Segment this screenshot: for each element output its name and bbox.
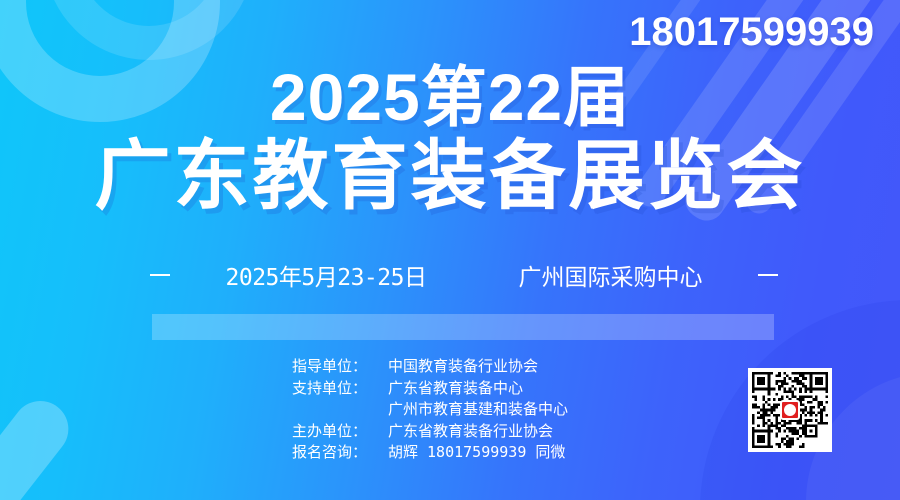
event-meta-row: 2025年5月23-25日 广州国际采购中心	[150, 258, 778, 292]
organizer-label: 主办单位：	[292, 421, 388, 443]
dash-right-decoration	[758, 274, 778, 276]
organizer-row: 主办单位： 广东省教育装备行业协会	[292, 421, 568, 443]
event-title-line-2: 广东教育装备展览会	[0, 136, 900, 218]
organizer-label	[292, 399, 388, 421]
qr-center-logo	[780, 400, 800, 420]
organizer-value: 广州市教育基建和装备中心	[388, 399, 568, 421]
organizer-label: 支持单位：	[292, 378, 388, 400]
organizer-label: 报名咨询：	[292, 442, 388, 464]
diagonal-bar-decoration	[0, 390, 80, 500]
organizer-value: 胡辉 18017599939 同微	[388, 442, 568, 464]
ring-arc-inner-decoration	[44, 0, 254, 60]
event-title-line-1: 2025第22届	[0, 62, 900, 132]
organizer-row: 指导单位： 中国教育装备行业协会	[292, 356, 568, 378]
contact-phone-number: 18017599939	[629, 10, 874, 55]
organizer-value: 中国教育装备行业协会	[388, 356, 568, 378]
divider-bar	[152, 314, 774, 340]
event-venue: 广州国际采购中心	[518, 258, 702, 292]
dash-left-decoration	[150, 274, 170, 276]
organizer-row: 报名咨询： 胡辉 18017599939 同微	[292, 442, 568, 464]
organizer-row: 支持单位： 广东省教育装备中心	[292, 378, 568, 400]
organizer-value: 广东省教育装备中心	[388, 378, 568, 400]
event-meta-group: 2025年5月23-25日 广州国际采购中心	[226, 258, 703, 292]
organizer-label: 指导单位：	[292, 356, 388, 378]
organizer-list: 指导单位： 中国教育装备行业协会 支持单位： 广东省教育装备中心 广州市教育基建…	[292, 356, 568, 464]
event-date: 2025年5月23-25日	[226, 258, 427, 292]
organizer-row: 广州市教育基建和装备中心	[292, 399, 568, 421]
organizer-value: 广东省教育装备行业协会	[388, 421, 568, 443]
qr-center-logo-dot	[784, 404, 796, 416]
event-banner: 18017599939 2025第22届 广东教育装备展览会 2025年5月23…	[0, 0, 900, 500]
qr-code[interactable]	[748, 368, 832, 452]
qr-code-canvas	[752, 372, 828, 448]
